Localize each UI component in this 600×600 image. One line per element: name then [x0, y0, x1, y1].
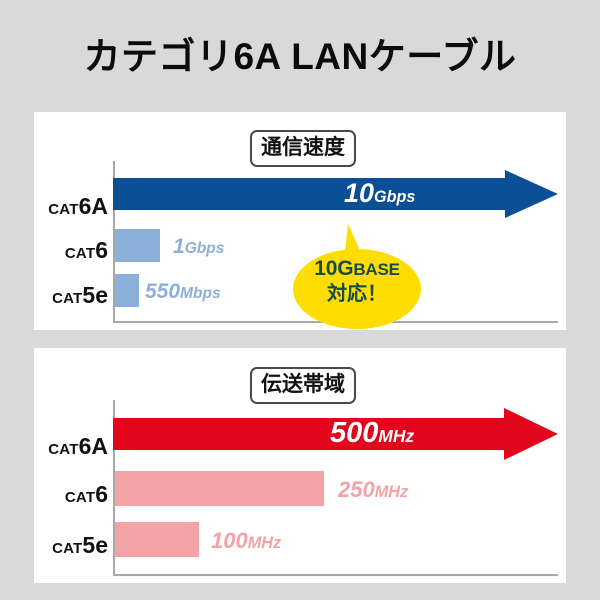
bar-arrow-cat6a-speed [113, 170, 558, 218]
category-name: 6 [95, 481, 108, 507]
page-title: カテゴリ6A LANケーブル [0, 34, 600, 80]
category-name: 5e [82, 532, 108, 558]
bar-value-unit: Mbps [180, 285, 221, 302]
bar-value-unit: MHz [378, 426, 414, 446]
bar-value-number: 100 [211, 528, 248, 553]
bar-cat5e-bandwidth [115, 522, 199, 557]
callout-line-1: 10GBASE [291, 258, 423, 281]
bar-value-cat6a-speed: 10Gbps [344, 180, 415, 207]
bar-value-number: 1 [173, 235, 185, 258]
category-prefix: CAT [65, 245, 95, 262]
category-prefix: CAT [48, 201, 78, 218]
infographic-page: カテゴリ6A LANケーブル 通信速度 CAT6A 10Gbps CAT6 [0, 0, 600, 600]
panel-transmission-bandwidth: 伝送帯域 CAT6A 500MHz CAT6 250MHz [34, 348, 566, 583]
bar-cat6-speed [115, 229, 160, 262]
callout-line-2: 対応！ [291, 284, 423, 306]
category-prefix: CAT [52, 540, 82, 557]
bar-value-unit: Gbps [374, 188, 415, 206]
category-prefix: CAT [52, 290, 82, 307]
category-name: 6A [79, 193, 108, 219]
category-name: 6 [95, 237, 108, 263]
bar-value-cat6a-bandwidth: 500MHz [330, 419, 414, 448]
bar-cat6-bandwidth [115, 471, 324, 506]
chart-x-axis [113, 574, 558, 576]
category-prefix: CAT [48, 441, 78, 458]
category-label-cat6a: CAT6A [34, 195, 108, 218]
category-label-cat6a: CAT6A [34, 435, 108, 458]
category-label-cat5e: CAT5e [34, 284, 108, 307]
bar-value-unit: Gbps [185, 240, 225, 257]
bar-value-cat6-speed: 1Gbps [173, 236, 224, 257]
category-name: 6A [79, 433, 108, 459]
bar-value-number: 250 [338, 477, 375, 502]
category-label-cat6: CAT6 [34, 483, 108, 506]
callout-line1-main: 10G [314, 257, 353, 280]
callout-10gbase: 10GBASE 対応！ [291, 222, 423, 330]
bar-value-number: 10 [344, 178, 374, 208]
bar-value-cat5e-bandwidth: 100MHz [211, 530, 281, 552]
category-label-cat5e: CAT5e [34, 534, 108, 557]
bar-cat5e-speed [115, 274, 139, 307]
bar-value-unit: MHz [375, 483, 408, 501]
bar-value-cat6-bandwidth: 250MHz [338, 479, 408, 501]
bar-value-number: 550 [145, 280, 180, 303]
bar-value-number: 500 [330, 417, 378, 449]
callout-line1-small: BASE [353, 260, 399, 279]
category-name: 5e [82, 282, 108, 308]
caption-transmission-bandwidth: 伝送帯域 [250, 367, 356, 404]
bar-value-unit: MHz [248, 534, 281, 552]
bar-value-cat5e-speed: 550Mbps [145, 281, 221, 302]
callout-text: 10GBASE 対応！ [291, 258, 423, 305]
category-prefix: CAT [65, 489, 95, 506]
category-label-cat6: CAT6 [34, 239, 108, 262]
caption-communication-speed: 通信速度 [250, 130, 356, 167]
